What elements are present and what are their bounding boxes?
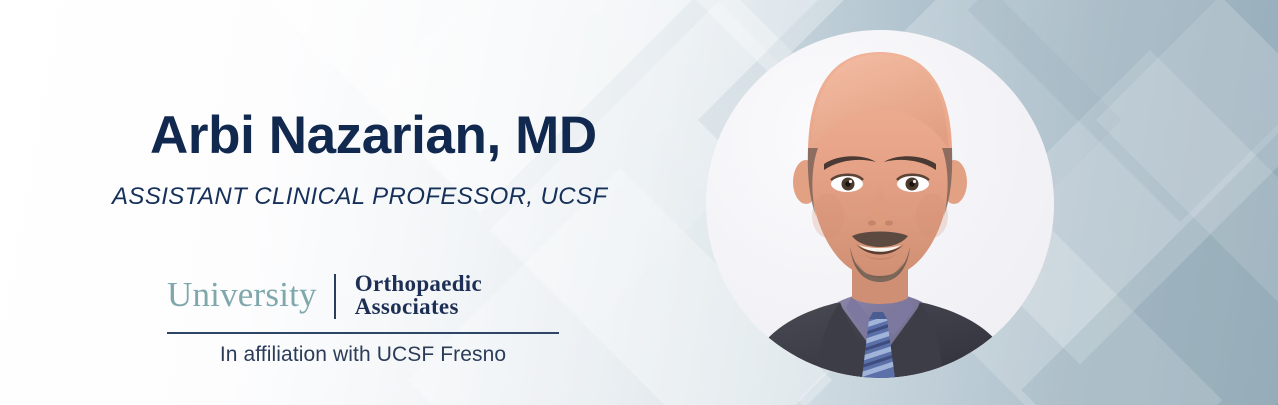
logo-vertical-divider bbox=[334, 274, 336, 319]
banner-text-column: Arbi Nazarian, MD ASSISTANT CLINICAL PRO… bbox=[0, 0, 700, 405]
logo-word-university: University bbox=[167, 277, 317, 315]
logo-horizontal-rule bbox=[167, 332, 559, 334]
doctor-portrait bbox=[706, 30, 1054, 378]
doctor-subtitle: ASSISTANT CLINICAL PROFESSOR, UCSF bbox=[112, 183, 607, 211]
logo-word-orthopaedic-associates: Orthopaedic Associates bbox=[355, 272, 559, 320]
university-orthopaedic-associates-logo[interactable]: University Orthopaedic Associates In aff… bbox=[167, 272, 559, 367]
page-title: Arbi Nazarian, MD bbox=[150, 108, 597, 164]
physician-profile-banner: Arbi Nazarian, MD ASSISTANT CLINICAL PRO… bbox=[0, 0, 1278, 405]
logo-affiliation-text: In affiliation with UCSF Fresno bbox=[167, 343, 559, 367]
logo-wordmark-row: University Orthopaedic Associates bbox=[167, 272, 559, 320]
